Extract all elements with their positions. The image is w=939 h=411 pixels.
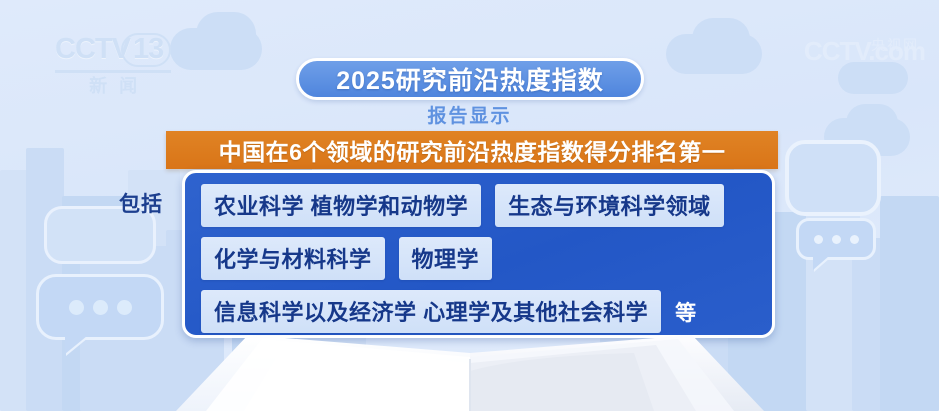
field-row: 信息科学以及经济学 心理学及其他社会科学 等 xyxy=(201,290,772,333)
logo-subtitle-text: 新闻 xyxy=(55,77,171,95)
include-label: 包括 xyxy=(119,188,163,218)
fields-panel: 农业科学 植物学和动物学 生态与环境科学领域 化学与材料科学 物理学 信息科学以… xyxy=(182,170,775,338)
chat-bubble-decor-upper-right xyxy=(785,140,881,216)
bubble-dot xyxy=(814,235,823,244)
field-tag: 信息科学以及经济学 心理学及其他社会科学 xyxy=(201,290,661,333)
open-book-illustration xyxy=(0,329,939,411)
bubble-dot xyxy=(93,300,108,315)
cctv13-channel-logo: CCTV13 新闻 xyxy=(55,33,171,95)
headline-text: 中国在6个领域的研究前沿热度指数得分排名第一 xyxy=(219,133,726,167)
chat-bubble-icon-right xyxy=(796,218,876,260)
page-title: 2025研究前沿热度指数 xyxy=(336,61,604,97)
headline-banner: 中国在6个领域的研究前沿热度指数得分排名第一 xyxy=(166,131,778,169)
subtitle-text: 报告显示 xyxy=(0,101,939,128)
logo-channel-number: 13 xyxy=(121,33,171,67)
field-row: 化学与材料科学 物理学 xyxy=(201,237,772,280)
field-tag: 生态与环境科学领域 xyxy=(495,184,724,227)
field-tag: 化学与材料科学 xyxy=(201,237,385,280)
main-title-pill: 2025研究前沿热度指数 xyxy=(296,58,644,100)
bubble-dot xyxy=(850,235,859,244)
bubble-dot xyxy=(832,235,841,244)
watermark-chinese-text: 央视网 xyxy=(871,35,919,55)
field-tag: 农业科学 植物学和动物学 xyxy=(201,184,481,227)
broadcast-graphic-stage: CCTV13 新闻 央视网 CCTV.com 2025研究前沿热度指数 报告显示… xyxy=(0,0,939,411)
field-row-suffix: 等 xyxy=(675,297,697,327)
bubble-dot xyxy=(117,300,132,315)
logo-network-text: CCTV xyxy=(55,33,130,65)
cctv-com-watermark: 央视网 CCTV.com xyxy=(804,38,925,64)
logo-divider xyxy=(55,70,171,73)
field-row: 农业科学 植物学和动物学 生态与环境科学领域 xyxy=(201,184,772,227)
field-tag: 物理学 xyxy=(399,237,493,280)
bubble-dot xyxy=(69,300,84,315)
